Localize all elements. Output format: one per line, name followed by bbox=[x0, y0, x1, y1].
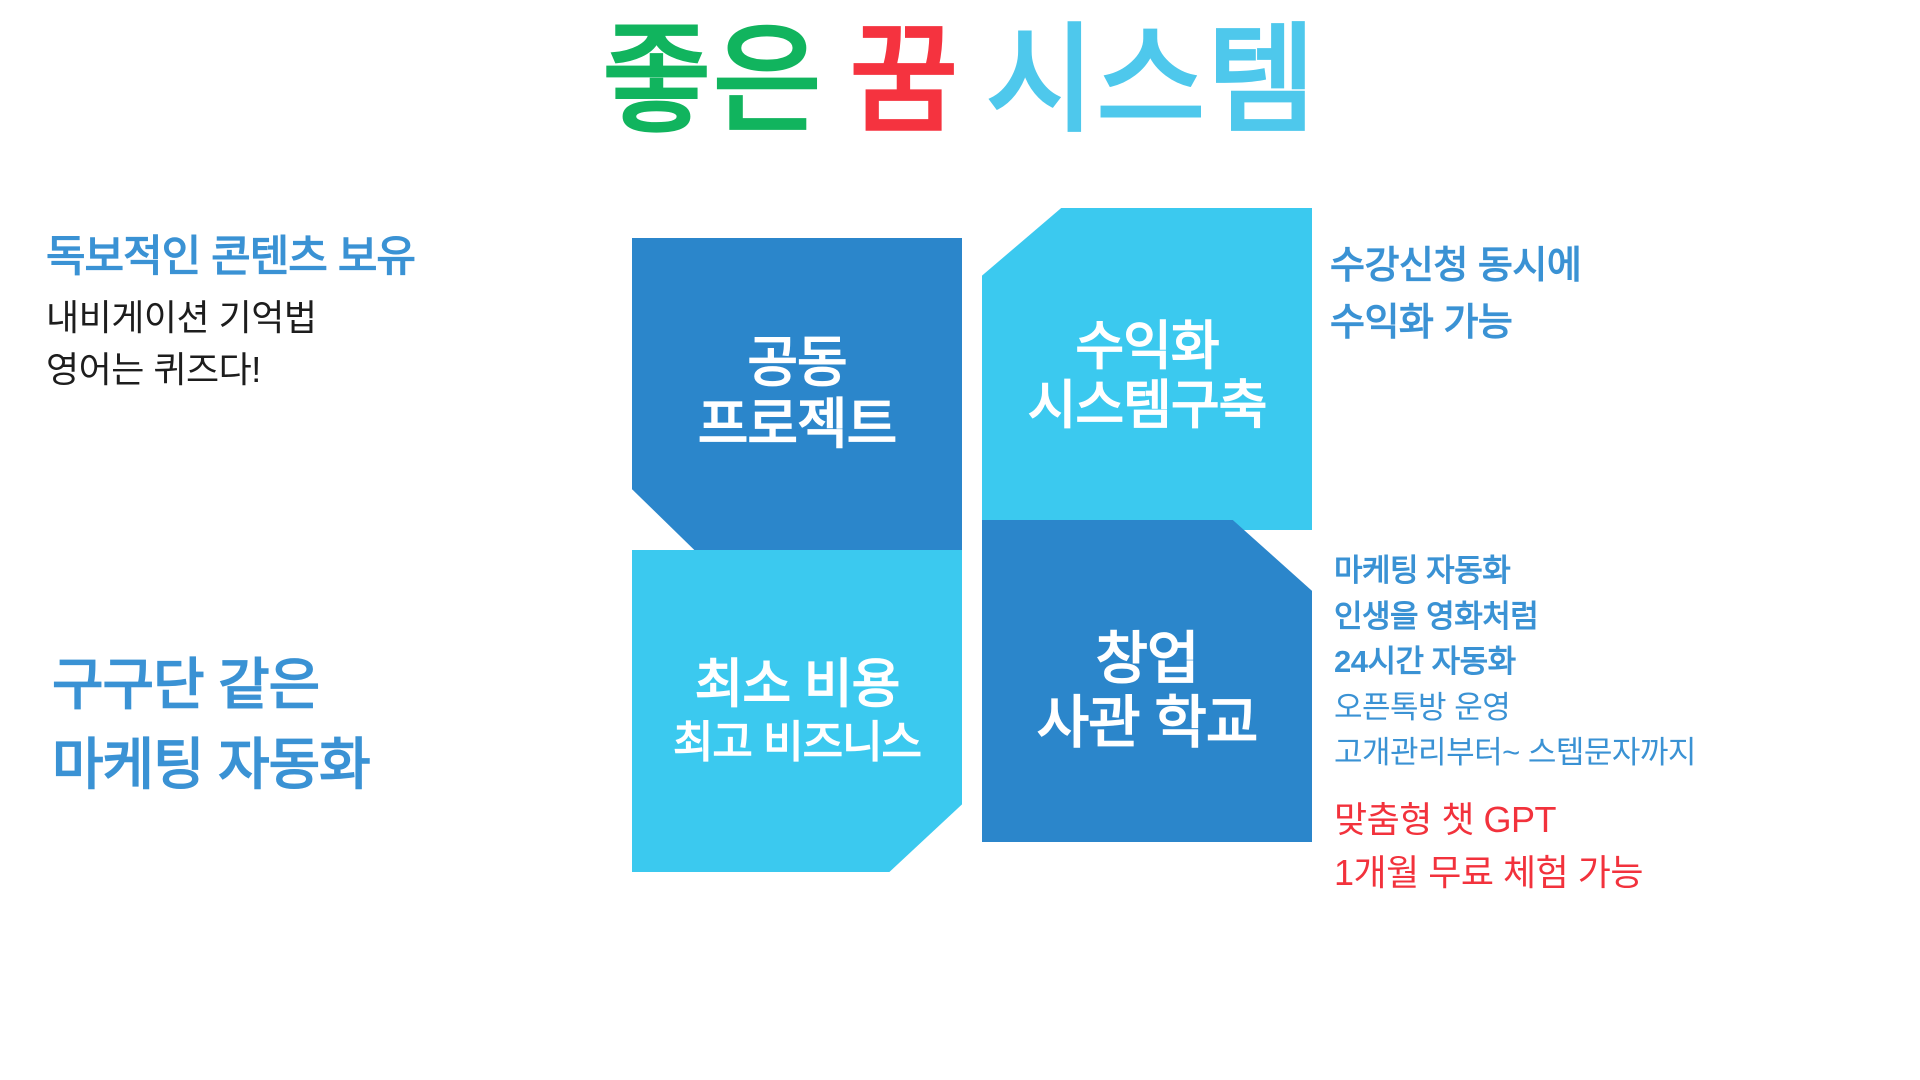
left-highlight-line-1: 구구단 같은 bbox=[52, 645, 370, 725]
quadrant-minimum-cost[interactable]: 최소 비용 최고 비즈니스 bbox=[632, 550, 962, 872]
quadrant-grid: 공동 프로젝트 수익화 시스템구축 최소 비용 최고 비즈니스 창업 사관 학교 bbox=[632, 208, 1312, 872]
left-heading: 독보적인 콘텐츠 보유 bbox=[46, 222, 415, 284]
right-promo-line-2: 1개월 무료 체험 가능 bbox=[1334, 846, 1643, 899]
right-top-line-2: 수익화 가능 bbox=[1330, 295, 1581, 352]
left-subtext: 내비게이션 기억법 영어는 퀴즈다! bbox=[46, 292, 316, 396]
quadrant-minimum-cost-line-1: 최소 비용 bbox=[695, 655, 900, 714]
quadrant-startup-academy-line-2: 사관 학교 bbox=[1037, 692, 1258, 756]
quadrant-startup-academy[interactable]: 창업 사관 학교 bbox=[982, 520, 1312, 842]
title-part-2: 꿈 bbox=[849, 15, 960, 147]
right-top-line-1: 수강신청 동시에 bbox=[1330, 238, 1581, 295]
quadrant-monetization-system[interactable]: 수익화 시스템구축 bbox=[982, 208, 1312, 530]
right-feature-item: 고개관리부터~ 스텝문자까지 bbox=[1334, 730, 1696, 776]
quadrant-joint-project-line-1: 공동 bbox=[747, 332, 846, 394]
quadrant-monetization-system-line-1: 수익화 bbox=[1075, 317, 1218, 376]
right-feature-item: 오픈톡방 운영 bbox=[1334, 685, 1696, 731]
quadrant-joint-project[interactable]: 공동 프로젝트 bbox=[632, 238, 962, 560]
right-feature-list: 마케팅 자동화 인생을 영화처럼 24시간 자동화 오픈톡방 운영 고개관리부터… bbox=[1334, 548, 1696, 776]
quadrant-joint-project-line-2: 프로젝트 bbox=[698, 394, 896, 456]
right-feature-item: 24시간 자동화 bbox=[1334, 639, 1696, 685]
page-title: 좋은꿈시스템 bbox=[0, 14, 1920, 150]
left-highlight-text: 구구단 같은 마케팅 자동화 bbox=[52, 645, 370, 804]
quadrant-monetization-system-line-2: 시스템구축 bbox=[1028, 376, 1267, 435]
right-feature-item: 인생을 영화처럼 bbox=[1334, 594, 1696, 640]
title-part-3: 시스템 bbox=[986, 15, 1318, 147]
title-part-1: 좋은 bbox=[602, 15, 823, 147]
quadrant-startup-academy-line-1: 창업 bbox=[1096, 628, 1199, 692]
left-subtext-line-1: 내비게이션 기억법 bbox=[46, 292, 316, 344]
quadrant-minimum-cost-line-2: 최고 비즈니스 bbox=[673, 718, 921, 767]
right-promo-text: 맞춤형 챗 GPT 1개월 무료 체험 가능 bbox=[1334, 793, 1643, 900]
right-top-text: 수강신청 동시에 수익화 가능 bbox=[1330, 238, 1581, 352]
right-promo-line-1: 맞춤형 챗 GPT bbox=[1334, 793, 1643, 846]
left-highlight-line-2: 마케팅 자동화 bbox=[52, 725, 370, 805]
left-subtext-line-2: 영어는 퀴즈다! bbox=[46, 344, 316, 396]
right-feature-item: 마케팅 자동화 bbox=[1334, 548, 1696, 594]
